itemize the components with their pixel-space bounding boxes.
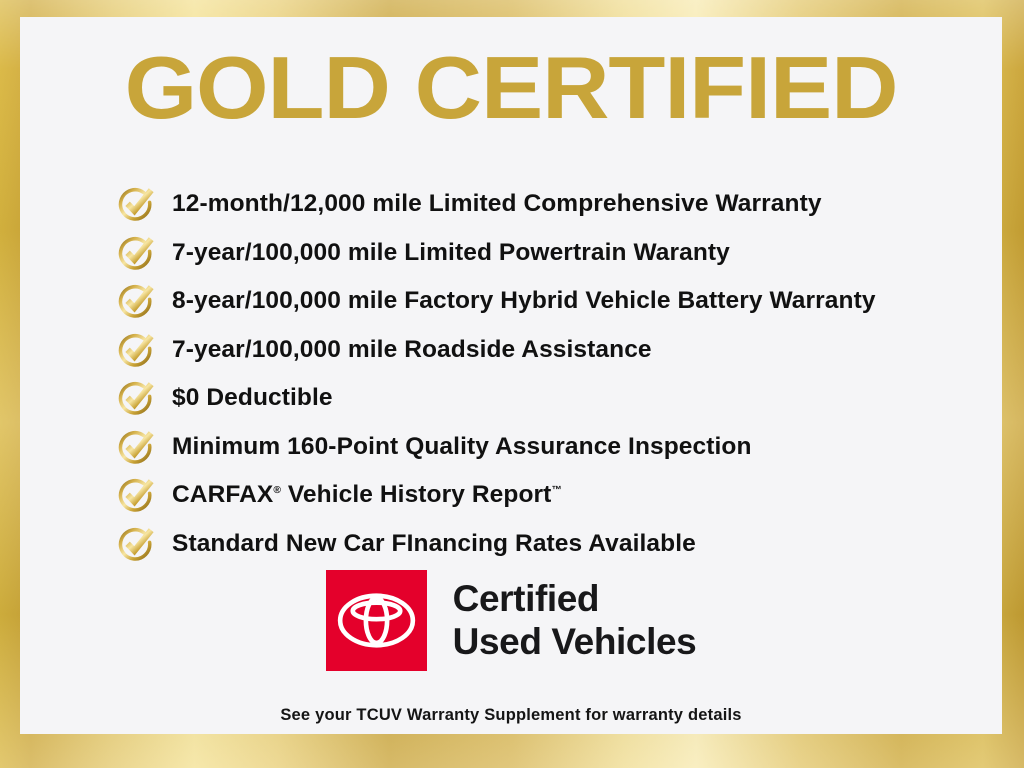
benefit-row: Standard New Car FInancing Rates Availab… <box>116 520 976 569</box>
benefit-label: 7-year/100,000 mile Roadside Assistance <box>172 337 652 363</box>
page-title: GOLD CERTIFIED <box>20 44 1002 132</box>
toyota-emblem-icon <box>326 570 427 671</box>
benefit-row: 8-year/100,000 mile Factory Hybrid Vehic… <box>116 277 976 326</box>
benefit-label: CARFAX® Vehicle History Report™ <box>172 482 562 508</box>
gold-check-circle-icon <box>116 427 156 467</box>
benefit-label: 8-year/100,000 mile Factory Hybrid Vehic… <box>172 288 876 314</box>
gold-check-circle-icon <box>116 281 156 321</box>
benefit-row: 7-year/100,000 mile Roadside Assistance <box>116 326 976 375</box>
warranty-footnote: See your TCUV Warranty Supplement for wa… <box>20 706 1002 725</box>
gold-check-circle-icon <box>116 184 156 224</box>
benefit-label: $0 Deductible <box>172 385 333 411</box>
benefit-label: Standard New Car FInancing Rates Availab… <box>172 531 696 557</box>
benefit-row: 12-month/12,000 mile Limited Comprehensi… <box>116 180 976 229</box>
benefit-label: 12-month/12,000 mile Limited Comprehensi… <box>172 191 822 217</box>
certificate-card: GOLD CERTIFIED 12-month/12,000 mile Limi… <box>20 17 1002 734</box>
gold-check-circle-icon <box>116 378 156 418</box>
benefit-label: Minimum 160-Point Quality Assurance Insp… <box>172 434 752 460</box>
gold-certified-certificate: GOLD CERTIFIED 12-month/12,000 mile Limi… <box>0 0 1024 768</box>
wordmark-line-used-vehicles: Used Vehicles <box>453 621 697 663</box>
gold-check-circle-icon <box>116 233 156 273</box>
benefit-row: Minimum 160-Point Quality Assurance Insp… <box>116 423 976 472</box>
toyota-wordmark: Certified Used Vehicles <box>453 578 697 662</box>
benefit-row: CARFAX® Vehicle History Report™ <box>116 471 976 520</box>
gold-check-circle-icon <box>116 524 156 564</box>
benefits-list: 12-month/12,000 mile Limited Comprehensi… <box>116 180 976 568</box>
benefit-row: $0 Deductible <box>116 374 976 423</box>
toyota-certified-used-vehicles-lockup: Certified Used Vehicles <box>20 570 1002 671</box>
benefit-row: 7-year/100,000 mile Limited Powertrain W… <box>116 229 976 278</box>
gold-check-circle-icon <box>116 330 156 370</box>
gold-check-circle-icon <box>116 475 156 515</box>
wordmark-line-certified: Certified <box>453 578 697 620</box>
benefit-label: 7-year/100,000 mile Limited Powertrain W… <box>172 240 730 266</box>
